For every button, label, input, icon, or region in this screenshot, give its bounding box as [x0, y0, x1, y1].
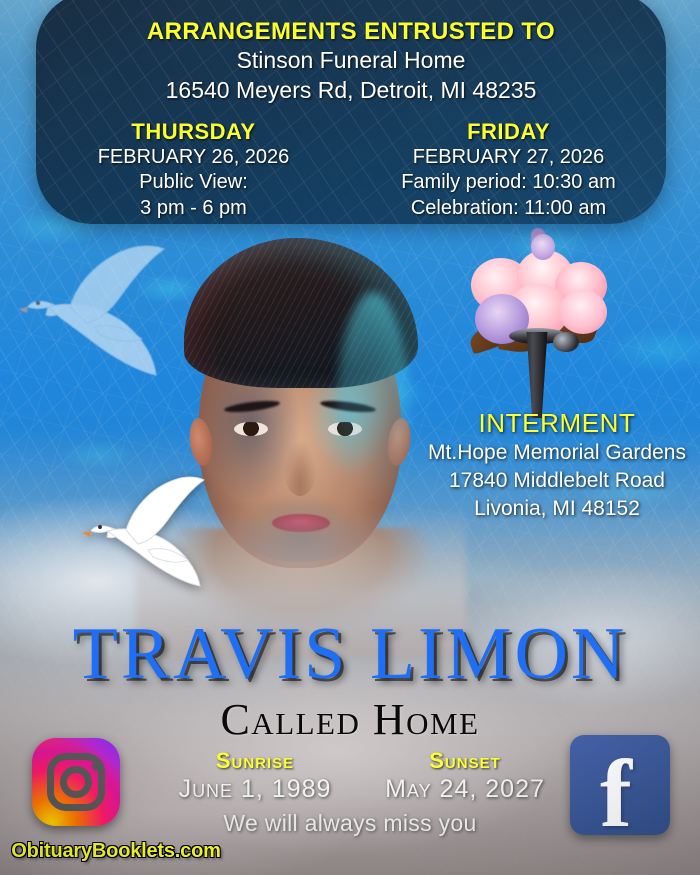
interment-title: INTERMENT — [418, 408, 696, 439]
arrangements-heading: ARRANGEMENTS ENTRUSTED TO — [36, 18, 666, 46]
life-dates: Sunrise June 1, 1989 Sunset May 24, 2027 — [150, 748, 570, 804]
sunset-block: Sunset May 24, 2027 — [360, 748, 570, 804]
sunset-date: May 24, 2027 — [360, 775, 570, 804]
service-detail-2: Celebration: 11:00 am — [351, 196, 666, 221]
instagram-lens-shape — [60, 766, 92, 798]
instagram-dot-shape — [92, 761, 102, 771]
sunrise-block: Sunrise June 1, 1989 — [150, 748, 360, 804]
cemetery-name: Mt.Hope Memorial Gardens — [418, 439, 696, 467]
funeral-home-address: 16540 Meyers Rd, Detroit, MI 48235 — [36, 76, 666, 105]
dove-icon — [78, 466, 210, 592]
website-url[interactable]: ObituaryBooklets.com — [0, 840, 232, 863]
cemetery-city-state: Livonia, MI 48152 — [418, 495, 696, 523]
service-date: FEBRUARY 26, 2026 — [36, 145, 351, 170]
service-detail-1: Family period: 10:30 am — [351, 170, 666, 195]
service-detail-1: Public View: — [36, 170, 351, 195]
facebook-f-glyph: f — [600, 753, 632, 835]
cemetery-street: 17840 Middlebelt Road — [418, 467, 696, 495]
sunrise-label: Sunrise — [150, 748, 360, 774]
service-thursday: THURSDAY FEBRUARY 26, 2026 Public View: … — [36, 119, 351, 221]
instagram-icon[interactable] — [32, 738, 120, 826]
sunrise-date: June 1, 1989 — [150, 775, 360, 804]
facebook-icon[interactable]: f — [570, 735, 670, 835]
sunset-label: Sunset — [360, 748, 570, 774]
deceased-name: TRAVIS LIMON — [0, 612, 700, 697]
service-schedule: THURSDAY FEBRUARY 26, 2026 Public View: … — [36, 119, 666, 221]
service-day-label: FRIDAY — [351, 119, 666, 145]
interment-block: INTERMENT Mt.Hope Memorial Gardens 17840… — [418, 408, 696, 523]
service-detail-2: 3 pm - 6 pm — [36, 196, 351, 221]
memorial-poster: ARRANGEMENTS ENTRUSTED TO Stinson Funera… — [0, 0, 700, 875]
arrangements-panel: ARRANGEMENTS ENTRUSTED TO Stinson Funera… — [36, 0, 666, 224]
service-friday: FRIDAY FEBRUARY 27, 2026 Family period: … — [351, 119, 666, 221]
funeral-home-name: Stinson Funeral Home — [36, 46, 666, 75]
flower-arrangement — [455, 228, 625, 418]
service-date: FEBRUARY 27, 2026 — [351, 145, 666, 170]
service-day-label: THURSDAY — [36, 119, 351, 145]
